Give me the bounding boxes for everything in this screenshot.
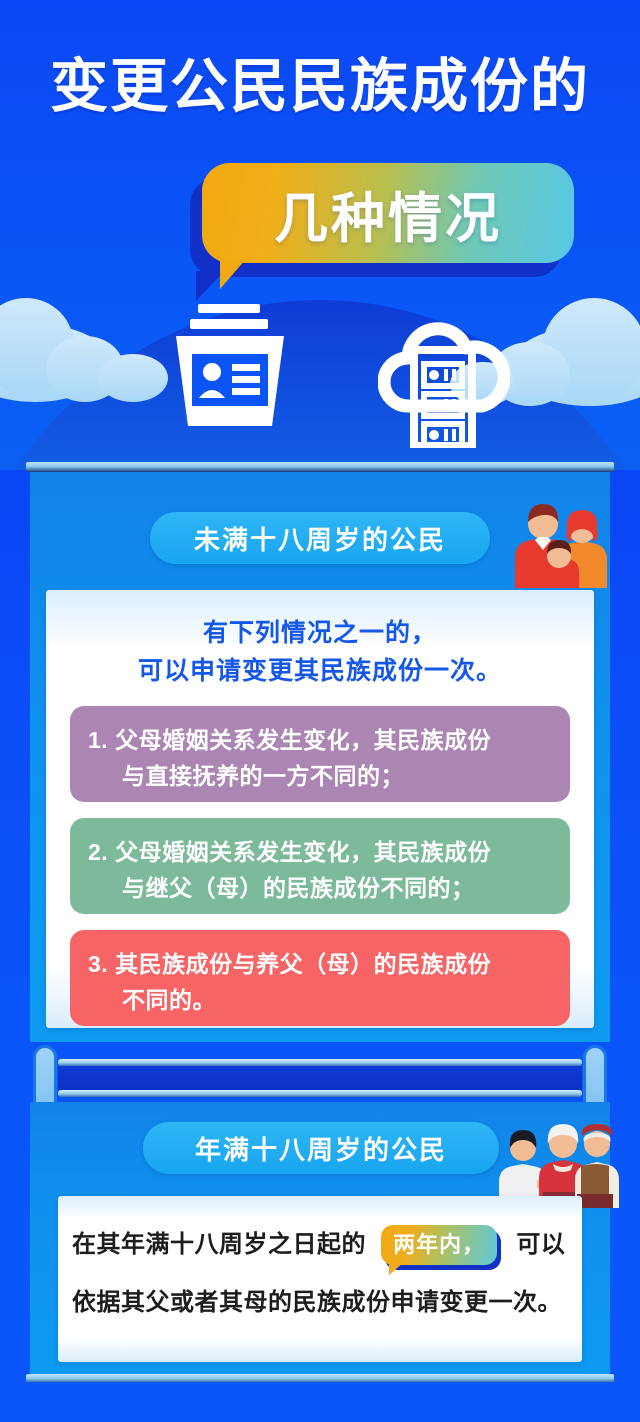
poster-title: 变更公民民族成份的 (0, 58, 640, 116)
panel-connector-rail-top (58, 1059, 582, 1066)
rule-item-2-number: 2. (88, 834, 108, 870)
minor-lead-line2: 可以申请变更其民族成份一次。 (46, 652, 594, 690)
rule-item-2-line2: 与继父（母）的民族成份不同的； (122, 870, 552, 906)
cloud-left-icon (0, 292, 190, 402)
family-illustration (505, 496, 613, 588)
minor-lead-line1: 有下列情况之一的， (46, 614, 594, 652)
title-badge-label: 几种情况 (202, 163, 574, 263)
rule-item-3-line1: 其民族成份与养父（母）的民族成份 (115, 951, 491, 977)
minor-lead-text: 有下列情况之一的， 可以申请变更其民族成份一次。 (46, 614, 594, 690)
panel-connector-rail-bottom (58, 1090, 582, 1097)
id-card-icon (166, 302, 294, 430)
elderly-couple-illustration (497, 1108, 619, 1208)
section-header-minor: 未满十八周岁的公民 (150, 512, 490, 564)
panel-connector-band (58, 1066, 582, 1090)
rule-item-1-line2: 与直接抚养的一方不同的； (122, 758, 552, 794)
rule-item-2: 2. 父母婚姻关系发生变化，其民族成份 与继父（母）的民族成份不同的； (70, 818, 570, 914)
highlight-badge-label: 两年内， (381, 1225, 497, 1265)
poster-footer (0, 1382, 640, 1422)
rule-item-3: 3. 其民族成份与养父（母）的民族成份 不同的。 (70, 930, 570, 1026)
title-badge: 几种情况 (202, 163, 574, 271)
rule-item-1-line1: 父母婚姻关系发生变化，其民族成份 (115, 727, 491, 753)
infographic-poster: 变更公民民族成份的 几种情况 未满十八周岁的公民 有下列情况之一的， 可以申请 (0, 0, 640, 1422)
adult-rule-part2: 可以 (516, 1231, 565, 1258)
section-header-adult: 年满十八周岁的公民 (143, 1122, 499, 1174)
adult-rule-line2: 依据其父或者其母的民族成份申请变更一次。 (72, 1272, 572, 1334)
panel-one-top-bar (26, 462, 614, 472)
adult-rule-part1: 在其年满十八周岁之日起的 (72, 1231, 366, 1258)
rule-item-1-number: 1. (88, 722, 108, 758)
rule-item-3-number: 3. (88, 946, 108, 982)
cloud-server-icon (378, 322, 510, 448)
rule-item-3-line2: 不同的。 (122, 982, 552, 1018)
rule-item-1: 1. 父母婚姻关系发生变化，其民族成份 与直接抚养的一方不同的； (70, 706, 570, 802)
adult-rule-line1: 在其年满十八周岁之日起的 两年内， 可以 (72, 1214, 572, 1276)
highlight-badge: 两年内， (381, 1225, 501, 1267)
rule-item-2-line1: 父母婚姻关系发生变化，其民族成份 (115, 839, 491, 865)
